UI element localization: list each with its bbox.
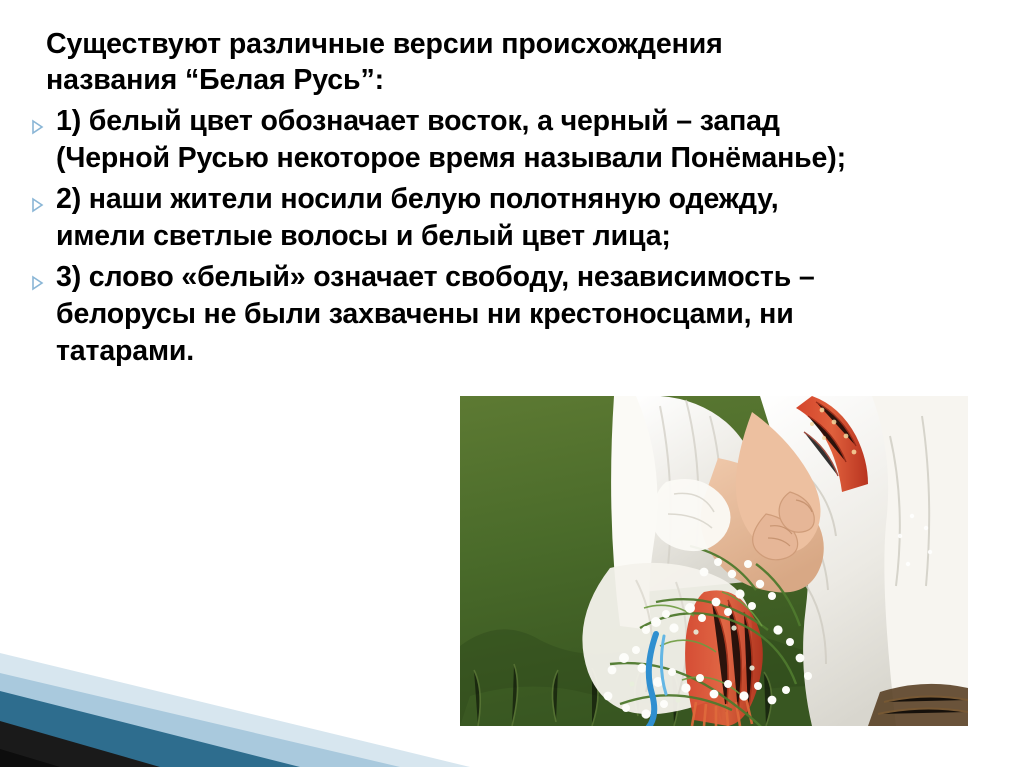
slide-canvas: Существуют различные версии происхождени… (0, 0, 1024, 767)
bullet-item-3: 3) слово «белый» означает свободу, незав… (30, 259, 995, 370)
bullet-3-line-3: татарами. (56, 335, 194, 367)
bullet-3-text: 3) слово «белый» означает свободу, незав… (56, 259, 995, 370)
intro-paragraph: Существуют различные версии происхождени… (46, 26, 995, 99)
bullet-item-2: 2) наши жители носили белую полотняную о… (30, 181, 995, 255)
bullet-item-1: 1) белый цвет обозначает восток, а черны… (30, 103, 995, 177)
slide-body-text: Существуют различные версии происхождени… (30, 26, 995, 370)
arrow-bullet-icon (30, 259, 56, 291)
bullet-3-line-2: белорусы не были захвачены ни крестоносц… (56, 298, 794, 330)
intro-line-2: названия “Белая Русь”: (46, 64, 384, 96)
bullet-2-text: 2) наши жители носили белую полотняную о… (56, 181, 995, 255)
arrow-bullet-icon (30, 103, 56, 135)
bullet-2-line-1: 2) наши жители носили белую полотняную о… (56, 183, 778, 215)
photo-girls-with-flowers (460, 396, 968, 726)
bullet-1-line-2: (Черной Русью некоторое время называли П… (56, 142, 846, 174)
bullet-3-line-1: 3) слово «белый» означает свободу, незав… (56, 261, 815, 293)
intro-line-1: Существуют различные версии происхождени… (46, 28, 723, 60)
bullet-1-line-1: 1) белый цвет обозначает восток, а черны… (56, 105, 780, 137)
bullet-1-text: 1) белый цвет обозначает восток, а черны… (56, 103, 995, 177)
corner-angles-decoration (0, 617, 470, 767)
arrow-bullet-icon (30, 181, 56, 213)
bullet-2-line-2: имели светлые волосы и белый цвет лица; (56, 220, 671, 252)
